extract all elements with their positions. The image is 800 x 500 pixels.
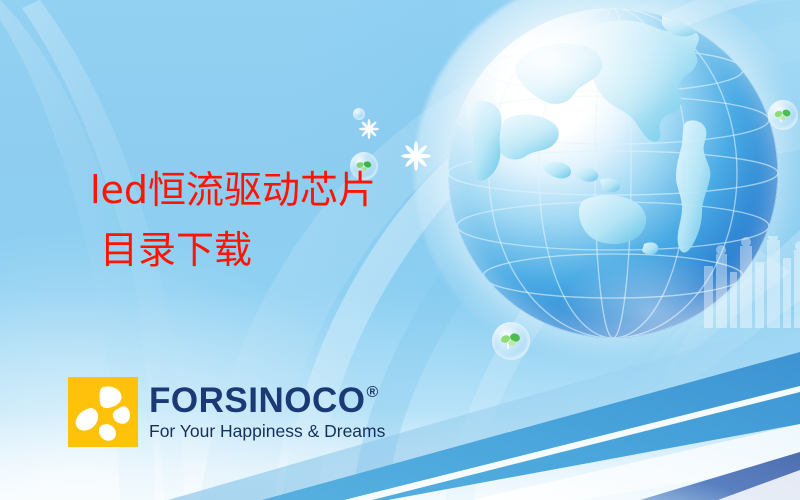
logo-tagline: For Your Happiness & Dreams (149, 420, 385, 442)
four-petal-pinwheel-icon (68, 377, 138, 447)
title-line-2: 目录下载 (90, 220, 520, 280)
logo-name: FORSINOCO ® (149, 383, 385, 419)
marketing-banner: led恒流驱动芯片 目录下载 FORSINOCO ® For Your Happ… (0, 0, 800, 500)
title-line-1: led恒流驱动芯片 (90, 160, 520, 220)
cityscape-icon (700, 236, 800, 328)
bubble-sprout-icon (492, 322, 530, 360)
bubble-sprout-icon (768, 100, 798, 130)
logo-wordmark: FORSINOCO ® For Your Happiness & Dreams (149, 383, 385, 442)
starburst-flower-icon (358, 118, 380, 140)
brand-logo: FORSINOCO ® For Your Happiness & Dreams (68, 377, 385, 447)
bubble-small-icon (353, 108, 365, 120)
banner-title: led恒流驱动芯片 目录下载 (90, 160, 520, 280)
registered-trademark-icon: ® (366, 383, 378, 403)
logo-name-text: FORSINOCO (149, 383, 365, 419)
